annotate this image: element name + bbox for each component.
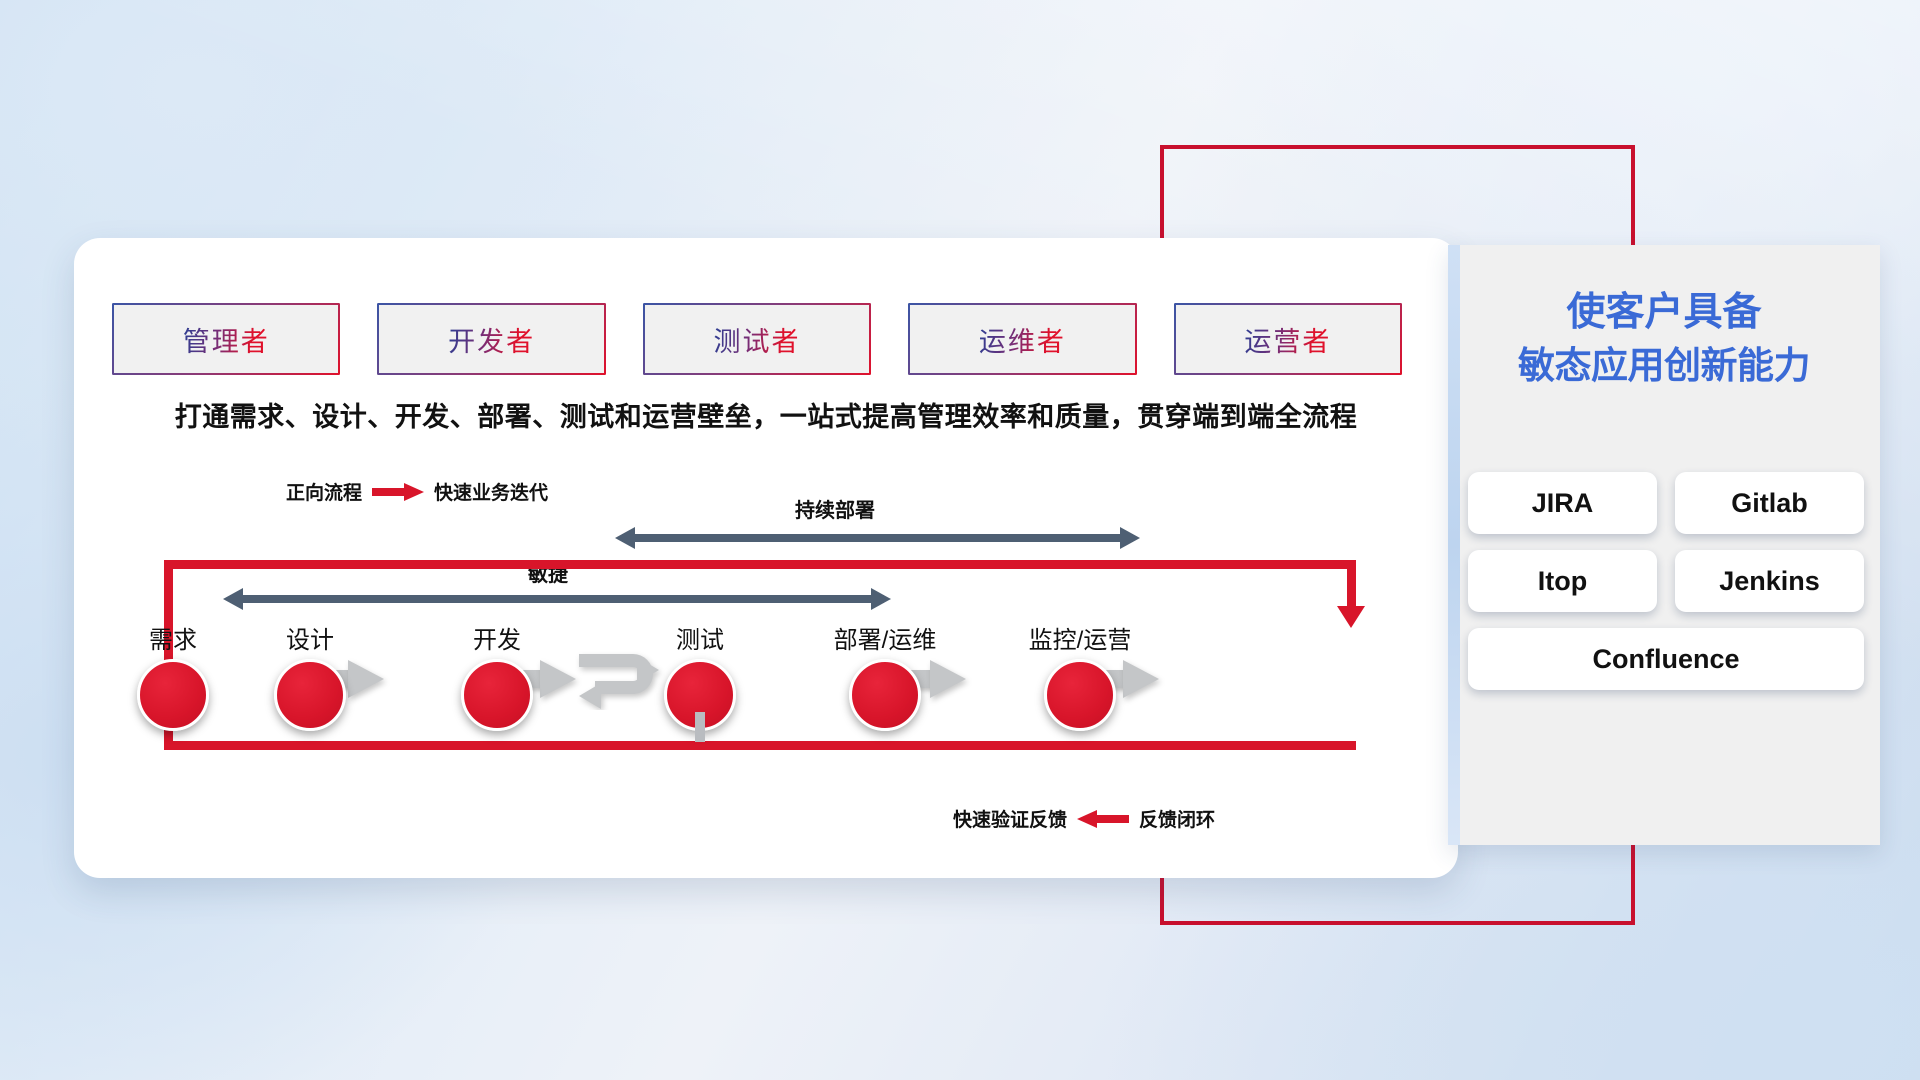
stage-label: 监控/运营 <box>1015 620 1145 655</box>
stage-dot[interactable] <box>1044 659 1116 731</box>
continuous-deployment-label: 持续部署 <box>795 494 875 523</box>
stage-label: 部署/运维 <box>820 620 950 655</box>
connector-frame-bottom <box>1160 921 1635 925</box>
fast-iteration-label: 快速业务迭代 <box>434 478 548 505</box>
role-box-developer[interactable]: 开发者 <box>377 303 605 375</box>
headline-text: 打通需求、设计、开发、部署、测试和运营壁垒，一站式提高管理效率和质量，贯穿端到端… <box>74 395 1458 434</box>
sidebar-title-line1: 使客户具备 <box>1448 285 1880 340</box>
tool-item-jenkins[interactable]: Jenkins <box>1675 550 1864 612</box>
sidebar-title: 使客户具备 敏态应用创新能力 <box>1448 285 1880 393</box>
pipeline-stage-requirements[interactable]: 需求 <box>108 620 238 731</box>
role-box-tester[interactable]: 测试者 <box>643 303 871 375</box>
stage-label: 设计 <box>245 620 375 655</box>
stage-dot[interactable] <box>137 659 209 731</box>
pipeline-stage-development[interactable]: 开发 <box>432 620 562 731</box>
continuous-deployment-arrow <box>604 527 1151 549</box>
loop-right-down <box>1347 560 1356 612</box>
arrow-left-icon <box>1077 810 1129 827</box>
arrow-right-icon <box>372 483 424 500</box>
feedback-annotation: 快速验证反馈 反馈闭环 <box>953 805 1215 832</box>
role-box-operator[interactable]: 运营者 <box>1174 303 1402 375</box>
role-label: 测试者 <box>714 320 801 359</box>
connector-frame-top <box>1160 145 1635 149</box>
fast-verification-label: 快速验证反馈 <box>953 805 1067 832</box>
pipeline-stage-monitor-operate[interactable]: 监控/运营 <box>1015 620 1145 731</box>
stage-label: 开发 <box>432 620 562 655</box>
forward-process-label: 正向流程 <box>286 478 362 505</box>
pipeline-stage-deploy-ops[interactable]: 部署/运维 <box>820 620 950 731</box>
role-label: 运维者 <box>979 320 1066 359</box>
forward-process-annotation: 正向流程 快速业务迭代 <box>286 478 548 505</box>
tool-item-itop[interactable]: Itop <box>1468 550 1657 612</box>
stage-dot[interactable] <box>274 659 346 731</box>
stage-stem <box>695 712 705 742</box>
role-box-manager[interactable]: 管理者 <box>112 303 340 375</box>
role-box-operations-maintenance[interactable]: 运维者 <box>908 303 1136 375</box>
stage-dot[interactable] <box>849 659 921 731</box>
stage-label: 测试 <box>635 620 765 655</box>
role-label: 管理者 <box>183 320 270 359</box>
loop-top <box>164 560 1356 569</box>
pipeline: 需求 设计 开发 测试 部 <box>120 620 1420 750</box>
role-label: 运营者 <box>1244 320 1331 359</box>
arrow-head-right-icon <box>1120 527 1151 549</box>
sidebar-title-line2: 敏态应用创新能力 <box>1448 340 1880 393</box>
tool-item-gitlab[interactable]: Gitlab <box>1675 472 1864 534</box>
stage-dot[interactable] <box>461 659 533 731</box>
tool-list: JIRA Gitlab Itop Jenkins Confluence <box>1468 472 1864 690</box>
role-box-row: 管理者 开发者 测试者 运维者 运营者 <box>112 303 1402 375</box>
role-label: 开发者 <box>448 320 535 359</box>
pipeline-stage-testing[interactable]: 测试 <box>635 620 765 731</box>
stage-label: 需求 <box>108 620 238 655</box>
arrow-bar <box>622 534 1133 542</box>
tool-item-jira[interactable]: JIRA <box>1468 472 1657 534</box>
pipeline-stage-design[interactable]: 设计 <box>245 620 375 731</box>
feedback-loop-label: 反馈闭环 <box>1139 805 1215 832</box>
tool-item-confluence[interactable]: Confluence <box>1468 628 1864 690</box>
